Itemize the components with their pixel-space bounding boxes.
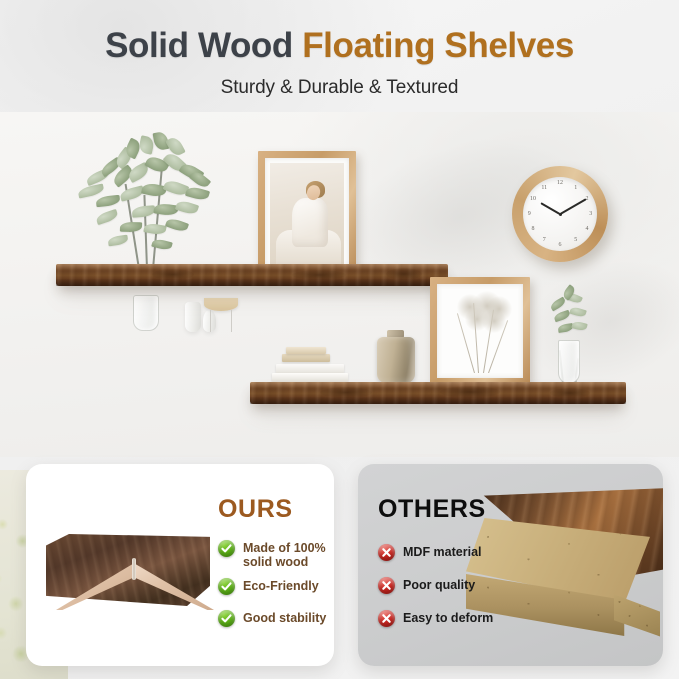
- wood-knot: [320, 387, 372, 398]
- others-card: OTHERS MDF material Poor quality Easy to…: [358, 464, 663, 666]
- plant-leaf: [96, 195, 121, 207]
- check-icon: [218, 540, 235, 557]
- shelf-top: [56, 264, 448, 286]
- plant-leaf: [165, 217, 189, 234]
- clock-center-pin: [559, 213, 562, 216]
- clock-number: 8: [532, 226, 535, 232]
- header: Solid Wood Floating Shelves Sturdy & Dur…: [0, 0, 679, 118]
- wall-clock: 12 1 2 3 4 5 6 7 8 9 10 11: [512, 166, 608, 262]
- others-product-photo: [464, 470, 663, 666]
- plant-leaf: [120, 222, 142, 233]
- stacked-book: [286, 347, 326, 354]
- plant-leaf: [77, 183, 105, 198]
- clock-number: 4: [585, 226, 588, 232]
- others-feature-label: MDF material: [403, 544, 482, 559]
- others-feature-item: Easy to deform: [378, 610, 518, 627]
- stacked-book: [272, 373, 348, 382]
- clock-number: 5: [574, 237, 577, 243]
- plant-leaf: [175, 199, 199, 216]
- page-title: Solid Wood Floating Shelves: [0, 26, 679, 66]
- joint-hinge: [132, 558, 136, 580]
- stacked-book: [276, 364, 344, 373]
- ours-feature-label: Made of 100% solid wood: [243, 540, 326, 569]
- print-image-botanical: [442, 289, 518, 373]
- cross-icon: [378, 610, 395, 627]
- ours-product-photo: [40, 522, 216, 627]
- print-tuft: [482, 309, 506, 333]
- glass-vase: [133, 295, 159, 331]
- photo-body: [292, 198, 328, 247]
- plant-leaf: [185, 185, 210, 202]
- product-infographic: Solid Wood Floating Shelves Sturdy & Dur…: [0, 0, 679, 679]
- plant-leaf: [143, 222, 166, 236]
- ours-feature-item: Made of 100% solid wood: [218, 540, 326, 569]
- check-icon: [218, 610, 235, 627]
- page-subtitle: Sturdy & Durable & Textured: [0, 77, 679, 99]
- clock-number: 1: [574, 185, 577, 191]
- wood-knot: [152, 269, 194, 280]
- title-part-accent: Floating Shelves: [302, 26, 574, 65]
- others-feature-label: Easy to deform: [403, 610, 493, 625]
- framed-photo-woman: [258, 151, 356, 277]
- framed-botanical-print: [430, 277, 530, 385]
- wood-knot: [550, 388, 590, 398]
- wood-knot: [440, 386, 500, 398]
- others-feature-item: Poor quality: [378, 577, 508, 594]
- check-icon: [218, 578, 235, 595]
- amber-glass-jar: [377, 337, 415, 383]
- others-feature-item: MDF material: [378, 544, 508, 561]
- title-part-primary: Solid Wood: [105, 26, 302, 65]
- stacked-book: [282, 354, 330, 362]
- clock-number: 6: [559, 242, 562, 248]
- clock-number: 9: [528, 211, 531, 217]
- cross-icon: [378, 577, 395, 594]
- bud-vase-glass: [558, 340, 580, 384]
- clock-number: 7: [543, 237, 546, 243]
- ours-feature-item: Good stability: [218, 610, 334, 627]
- others-feature-label: Poor quality: [403, 577, 475, 592]
- clock-number: 10: [530, 196, 536, 202]
- plant-leaf: [95, 209, 119, 225]
- cross-icon: [378, 544, 395, 561]
- clock-hour-hand: [540, 202, 560, 215]
- bowl-stand: [210, 310, 232, 332]
- print-mat: [437, 284, 523, 378]
- hero-room-scene: 12 1 2 3 4 5 6 7 8 9 10 11: [0, 112, 679, 457]
- clock-number: 11: [541, 185, 547, 191]
- mdf-side-edge: [614, 590, 660, 644]
- small-white-vase: [185, 302, 201, 332]
- clock-number: 12: [557, 180, 563, 186]
- ours-heading: OURS: [218, 495, 293, 524]
- others-heading: OTHERS: [378, 495, 486, 524]
- wood-knot: [292, 270, 346, 280]
- ours-feature-item: Eco-Friendly: [218, 578, 334, 595]
- clock-face: 12 1 2 3 4 5 6 7 8 9 10 11: [523, 177, 598, 252]
- clock-number: 3: [589, 211, 592, 217]
- wood-knot: [386, 268, 422, 280]
- shelf-bottom: [250, 382, 626, 404]
- ours-feature-label: Good stability: [243, 610, 326, 625]
- photo-mat: [265, 158, 349, 270]
- clock-minute-hand: [560, 198, 587, 214]
- ours-feature-label: Eco-Friendly: [243, 578, 319, 593]
- plant-leaf: [132, 205, 156, 218]
- particle-texture: [614, 590, 660, 644]
- plant-leaf: [107, 235, 128, 247]
- ours-card: OURS Made of 100% solid wood Eco-Friendl…: [26, 464, 334, 666]
- photo-image-woman: [270, 163, 344, 265]
